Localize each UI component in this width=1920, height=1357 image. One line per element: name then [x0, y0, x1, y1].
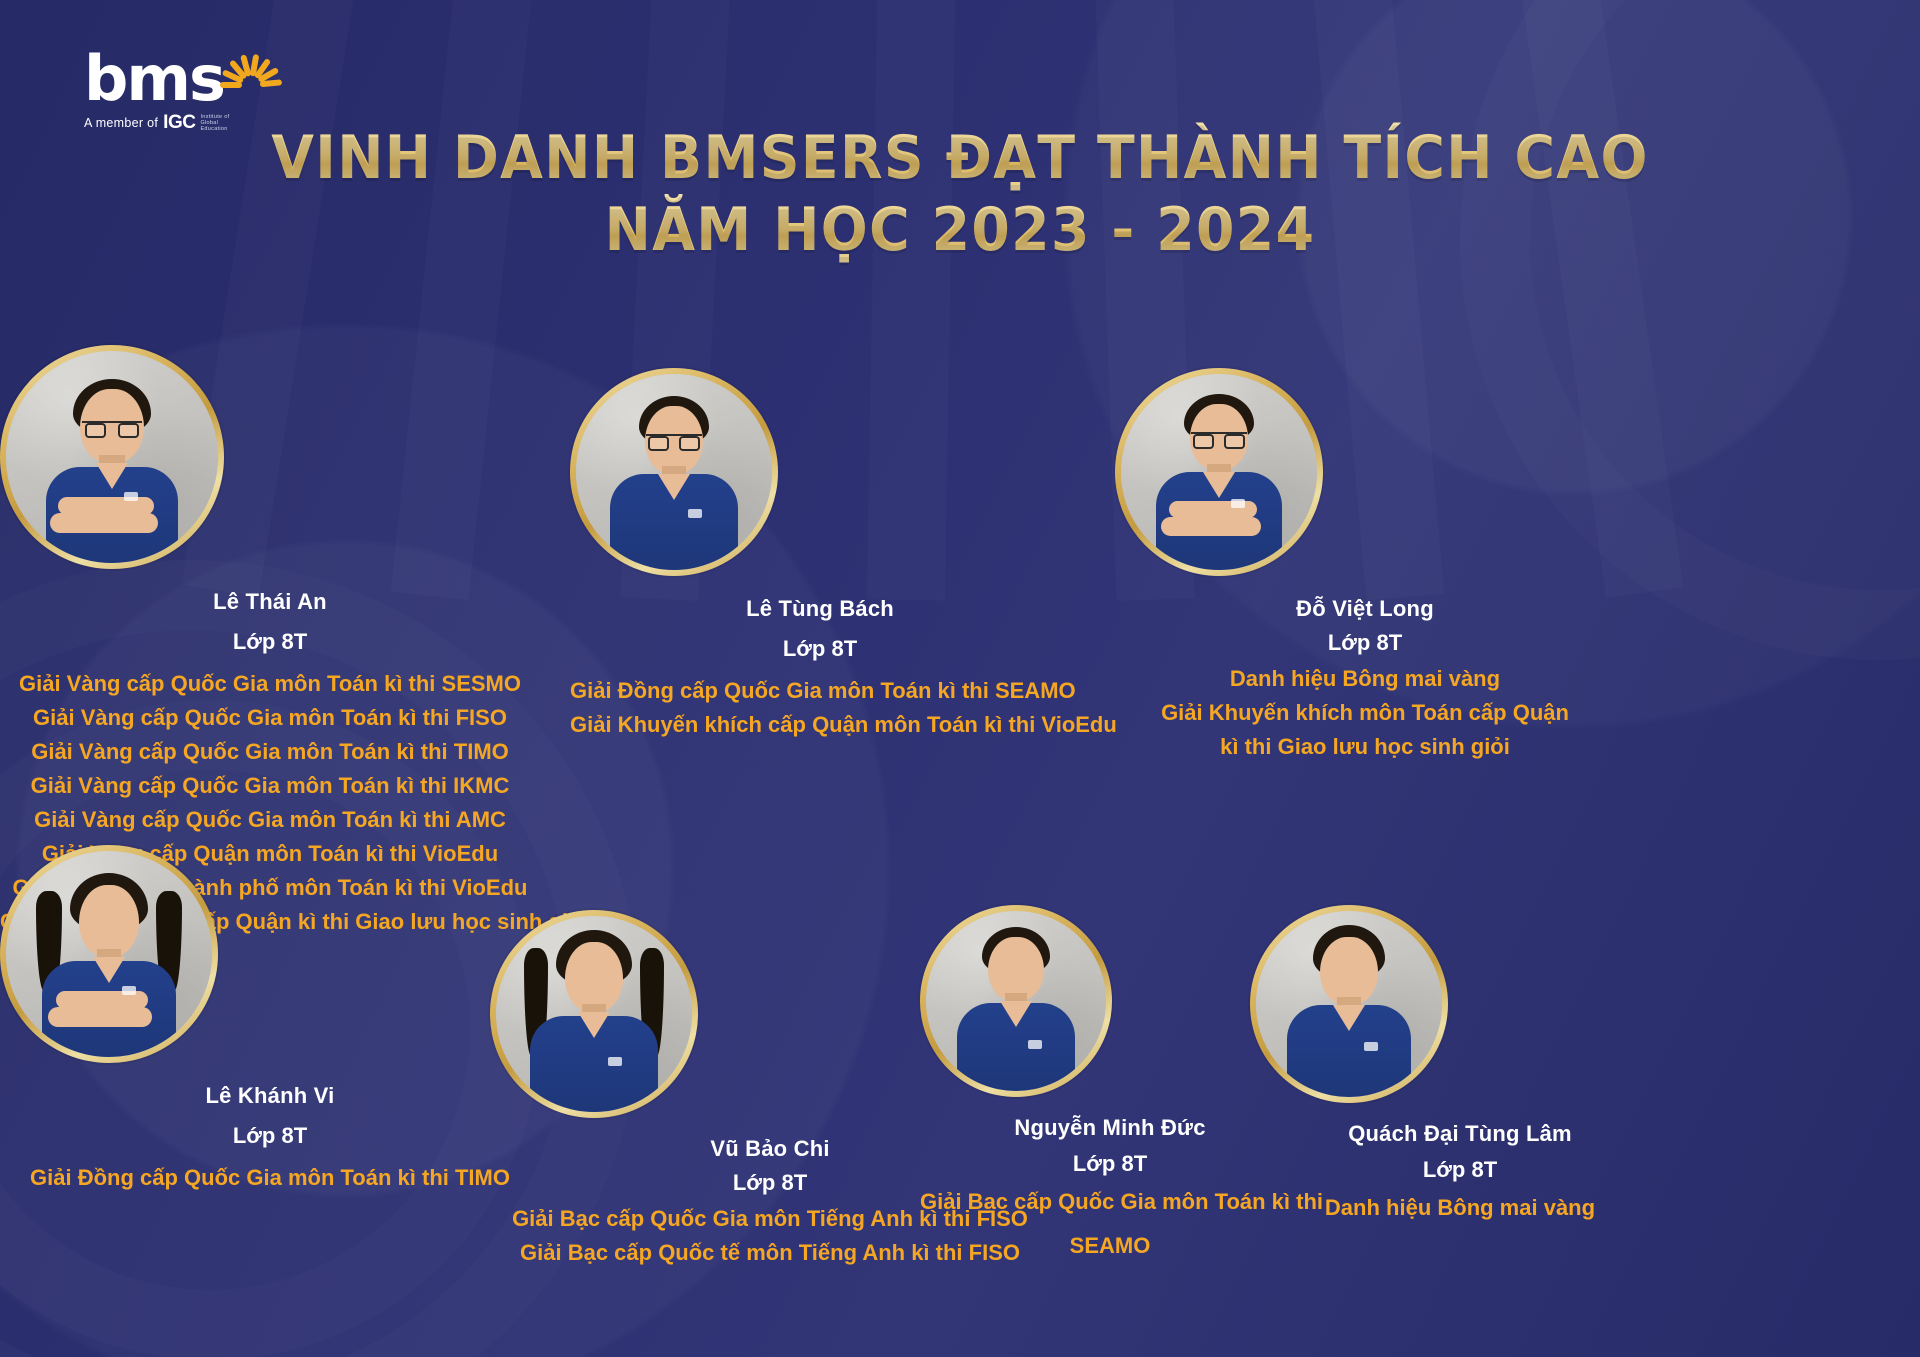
avatar	[570, 368, 1070, 576]
logo-wordmark: bms	[84, 48, 324, 110]
student-class: Lớp 8T	[920, 1149, 1300, 1179]
student-card-do-viet-long: Đỗ Việt Long Lớp 8T Danh hiệu Bông mai v…	[1115, 368, 1615, 764]
achievement-item: SEAMO	[920, 1229, 1300, 1263]
achievement-item: Giải Khuyến khích môn Toán cấp Quận kì t…	[1115, 696, 1615, 764]
title-line-1: VINH DANH BMSERS ĐẠT THÀNH TÍCH CAO	[77, 122, 1843, 194]
avatar	[0, 345, 540, 569]
achievement-item: Danh hiệu Bông mai vàng	[1250, 1191, 1670, 1225]
student-name: Lê Thái An	[0, 587, 540, 617]
student-card-le-tung-bach: Lê Tùng Bách Lớp 8T Giải Đồng cấp Quốc G…	[570, 368, 1070, 742]
achievement-item: Giải Vàng cấp Quốc Gia môn Toán kì thi T…	[0, 735, 540, 769]
achievement-item: Giải Đồng cấp Quốc Gia môn Toán kì thi S…	[570, 674, 1070, 708]
student-class: Lớp 8T	[570, 634, 1070, 664]
achievement-item: Giải Khuyến khích cấp Quận môn Toán kì t…	[570, 708, 1070, 742]
student-card-quach-dai-tung-lam: Quách Đại Tùng Lâm Lớp 8T Danh hiệu Bông…	[1250, 905, 1670, 1225]
achievement-list: Giải Bạc cấp Quốc Gia môn Toán kì thi SE…	[920, 1185, 1300, 1263]
student-name: Đỗ Việt Long	[1115, 594, 1615, 624]
student-class: Lớp 8T	[0, 1121, 540, 1151]
achievement-list: Danh hiệu Bông mai vàng Giải Khuyến khíc…	[1115, 662, 1615, 764]
achievement-item: Giải Vàng cấp Quốc Gia môn Toán kì thi F…	[0, 701, 540, 735]
student-name: Quách Đại Tùng Lâm	[1250, 1119, 1670, 1149]
avatar	[1250, 905, 1670, 1103]
title-line-2: NĂM HỌC 2023 - 2024	[77, 194, 1843, 266]
sun-burst-icon	[220, 54, 282, 116]
student-name: Lê Tùng Bách	[570, 594, 1070, 624]
achievement-item: Giải Đồng cấp Quốc Gia môn Toán kì thi T…	[0, 1161, 540, 1195]
student-card-nguyen-minh-duc: Nguyễn Minh Đức Lớp 8T Giải Bạc cấp Quốc…	[920, 905, 1300, 1263]
student-class: Lớp 8T	[1250, 1155, 1670, 1185]
achievement-list: Giải Đồng cấp Quốc Gia môn Toán kì thi T…	[0, 1161, 540, 1195]
student-name: Lê Khánh Vi	[0, 1081, 540, 1111]
achievement-item: Giải Bạc cấp Quốc Gia môn Toán kì thi	[920, 1185, 1300, 1219]
award-poster: bms A member of IGC Institute of Global …	[0, 0, 1920, 1357]
page-title: VINH DANH BMSERS ĐẠT THÀNH TÍCH CAO NĂM …	[0, 122, 1920, 266]
achievement-list: Danh hiệu Bông mai vàng	[1250, 1191, 1670, 1225]
achievement-list: Giải Đồng cấp Quốc Gia môn Toán kì thi S…	[570, 674, 1070, 742]
achievement-item: Danh hiệu Bông mai vàng	[1115, 662, 1615, 696]
avatar	[1115, 368, 1615, 576]
student-card-le-khanh-vi: Lê Khánh Vi Lớp 8T Giải Đồng cấp Quốc Gi…	[0, 845, 540, 1195]
avatar	[0, 845, 540, 1063]
student-class: Lớp 8T	[0, 627, 540, 657]
achievement-item: Giải Vàng cấp Quốc Gia môn Toán kì thi A…	[0, 803, 540, 837]
student-class: Lớp 8T	[1115, 628, 1615, 658]
student-name: Nguyễn Minh Đức	[920, 1113, 1300, 1143]
achievement-item: Giải Vàng cấp Quốc Gia môn Toán kì thi S…	[0, 667, 540, 701]
achievement-item: Giải Vàng cấp Quốc Gia môn Toán kì thi I…	[0, 769, 540, 803]
avatar	[920, 905, 1300, 1097]
